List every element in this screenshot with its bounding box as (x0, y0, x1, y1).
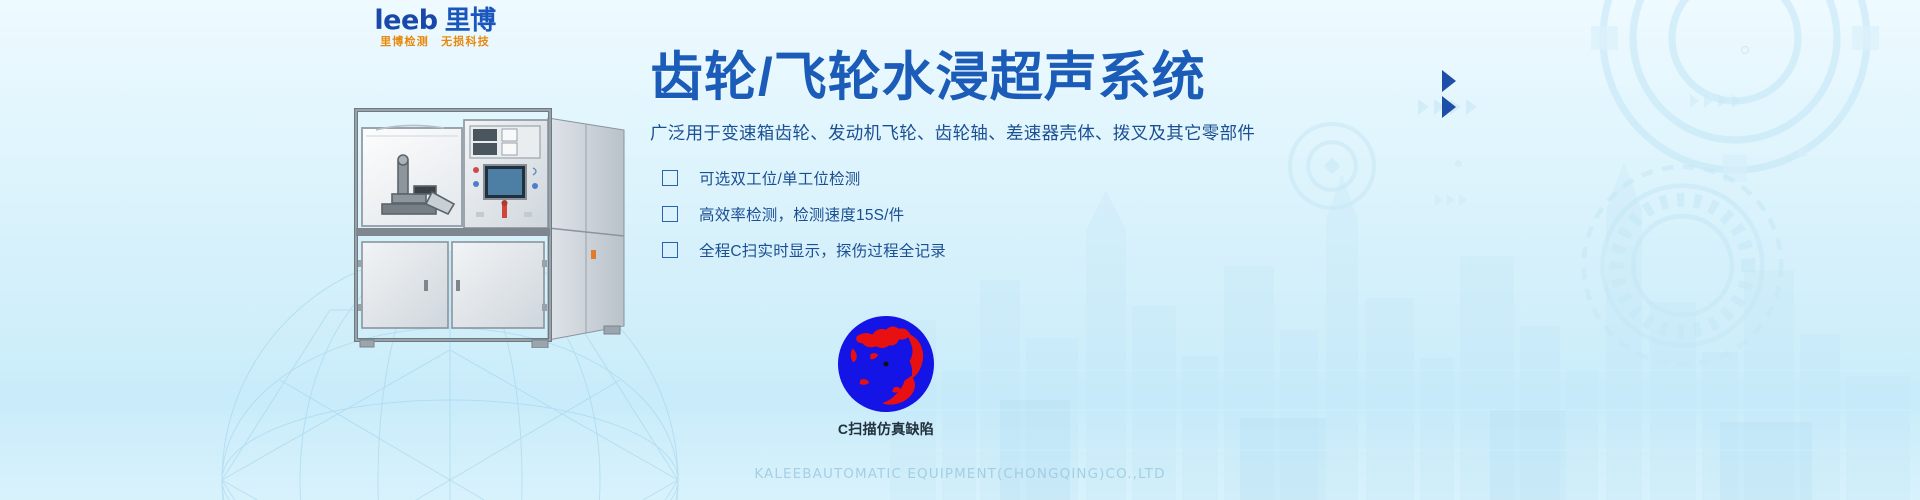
list-item[interactable]: 全程C扫实时显示，探伤过程全记录 (650, 232, 1290, 268)
chevron-arrows-right (1690, 92, 1750, 110)
ultrasonic-immersion-machine-photo (336, 100, 636, 348)
list-item-label: 可选双工位/单工位检测 (699, 167, 861, 189)
feature-list: 可选双工位/单工位检测 高效率检测，检测速度15S/件 全程C扫实时显示，探伤过… (650, 160, 1290, 268)
checkbox-empty-icon[interactable] (662, 170, 678, 186)
logo-latin-text: leeb (374, 5, 437, 36)
chevron-arrows-right (1435, 192, 1481, 208)
c-scan-result-image (837, 315, 935, 413)
list-item[interactable]: 可选双工位/单工位检测 (650, 160, 1290, 196)
chevron-arrows-right (1418, 96, 1490, 118)
checkbox-empty-icon[interactable] (662, 206, 678, 222)
checkbox-empty-icon[interactable] (662, 242, 678, 258)
company-watermark: KALEEBAUTOMATIC EQUIPMENT(CHONGQING)CO.,… (0, 466, 1920, 482)
list-item[interactable]: 高效率检测，检测速度15S/件 (650, 196, 1290, 232)
hero-content: 齿轮/飞轮水浸超声系统 广泛用于变速箱齿轮、发动机飞轮、齿轮轴、差速器壳体、拨叉… (650, 48, 1290, 268)
decor-dot (1741, 46, 1749, 54)
list-item-label: 高效率检测，检测速度15S/件 (699, 203, 904, 225)
hero-subtitle: 广泛用于变速箱齿轮、发动机飞轮、齿轮轴、差速器壳体、拨叉及其它零部件 (650, 120, 1290, 146)
chevron-accent-icon (1440, 68, 1466, 122)
logo-tagline: 里博检测 无损科技 (345, 35, 525, 49)
product-banner: leeb里博 里博检测 无损科技 (0, 0, 1920, 500)
decor-dot (1798, 148, 1807, 157)
c-scan-caption: C扫描仿真缺陷 (786, 419, 986, 439)
leeb-logo[interactable]: leeb里博 里博检测 无损科技 (345, 6, 525, 50)
decor-dot (1455, 160, 1462, 167)
gear-outline-large (1585, 0, 1885, 188)
list-item-label: 全程C扫实时显示，探伤过程全记录 (699, 239, 946, 261)
c-scan-result: C扫描仿真缺陷 (786, 315, 986, 445)
page-title: 齿轮/飞轮水浸超声系统 (650, 48, 1290, 108)
logo-chinese-text: 里博 (445, 5, 496, 35)
gear-outline-medium (1565, 148, 1800, 383)
logo-wordmark: leeb里博 (345, 6, 525, 35)
